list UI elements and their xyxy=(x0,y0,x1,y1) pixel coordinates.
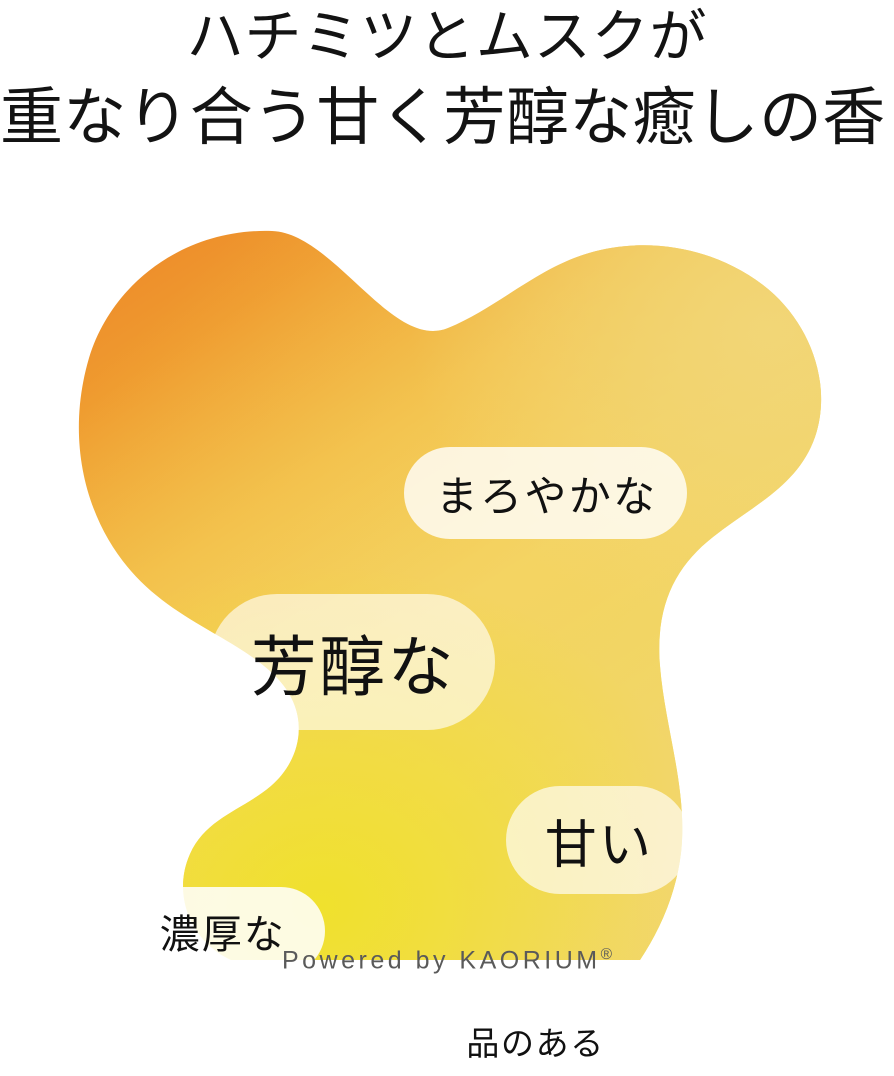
headline-line-2: 重なり合う甘く芳醇な癒しの香り xyxy=(0,76,894,160)
scent-gradient-blob xyxy=(0,200,894,960)
scent-map: まろやかな 芳醇な 甘い 濃厚な 品のある xyxy=(0,200,894,960)
powered-by-prefix: Powered by xyxy=(282,947,459,975)
scent-tag-amai[interactable]: 甘い xyxy=(506,786,690,894)
headline-line-1: ハチミツとムスクが xyxy=(0,2,894,74)
powered-by-credit: Powered by KAORIUM® xyxy=(0,946,894,976)
scent-tag-shinanoaru[interactable]: 品のある xyxy=(429,1006,641,1076)
kaorium-brand-name: KAORIUM xyxy=(459,947,600,975)
blob-fill xyxy=(0,200,894,960)
scent-tag-maroyakana[interactable]: まろやかな xyxy=(404,447,687,539)
registered-trademark-symbol: ® xyxy=(601,946,612,963)
scent-tag-houjunna[interactable]: 芳醇な xyxy=(209,594,495,730)
